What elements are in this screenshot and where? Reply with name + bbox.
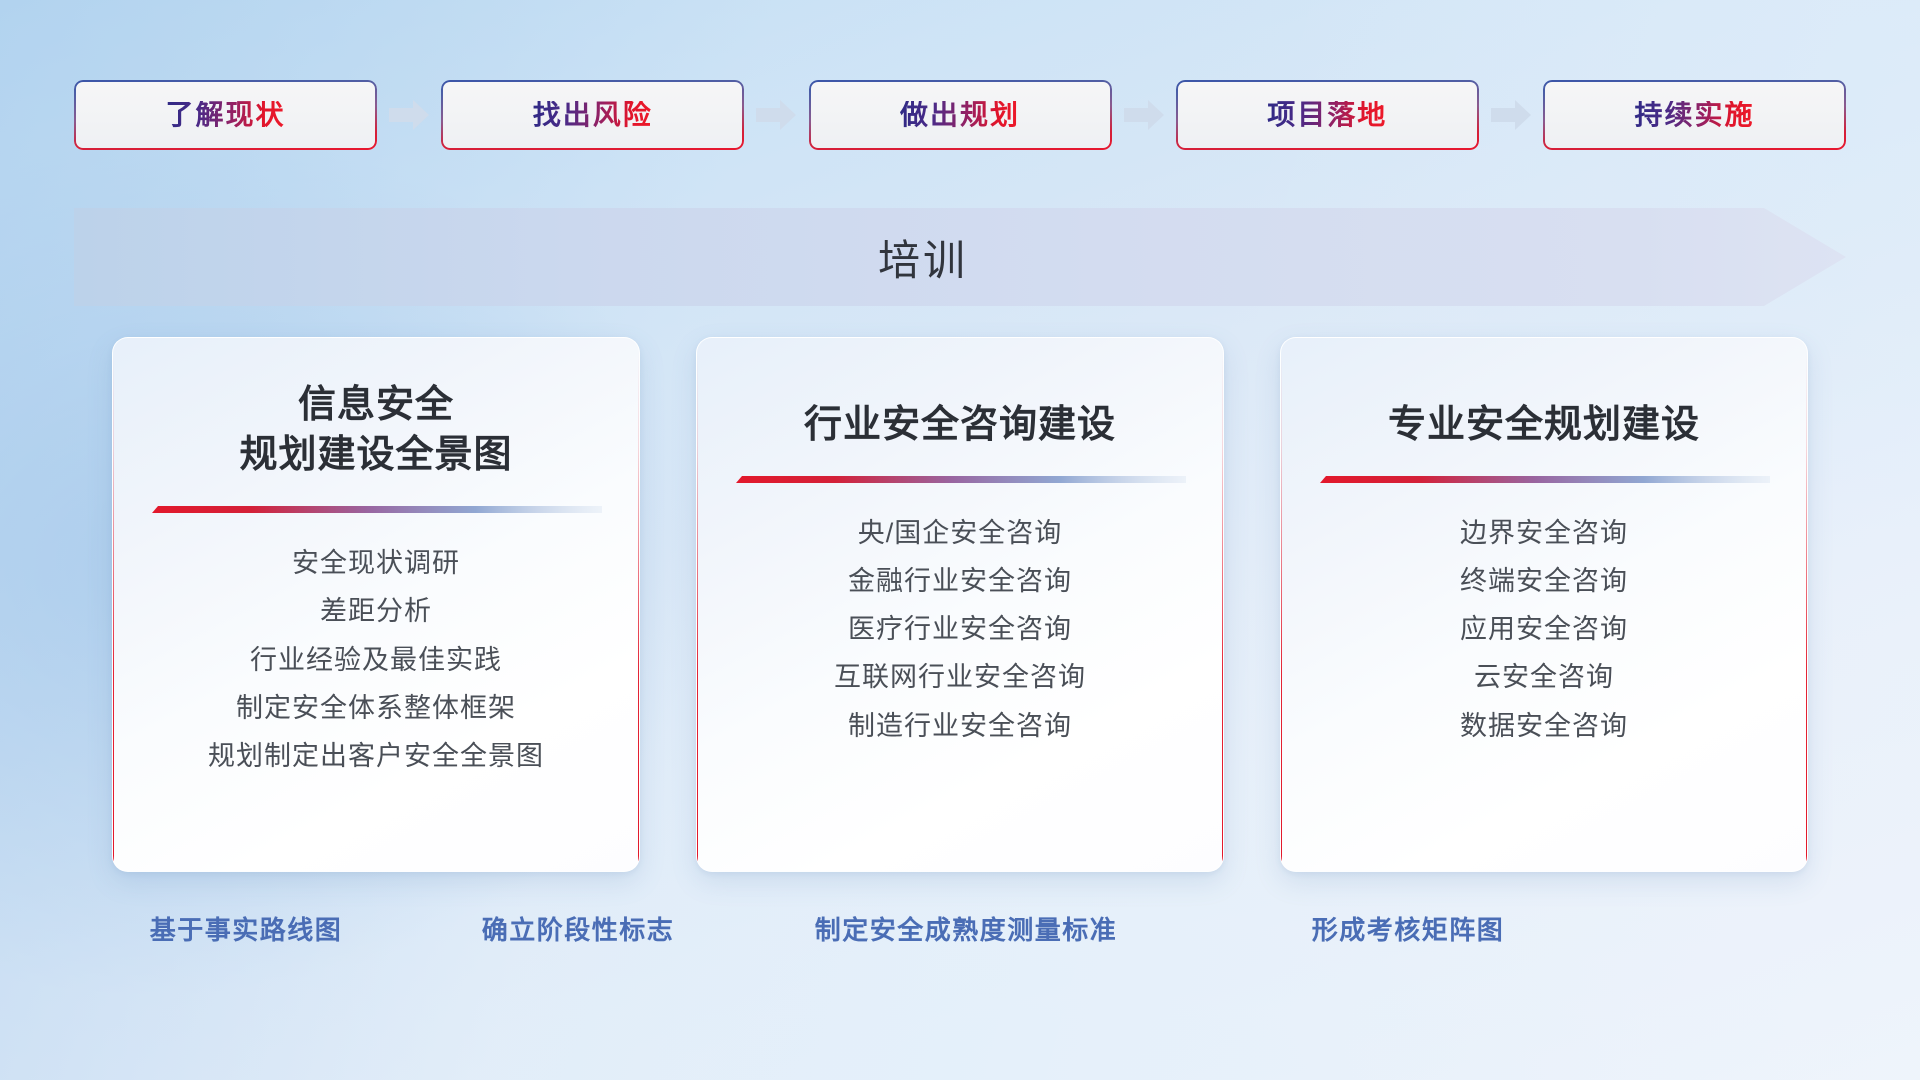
list-item: 行业经验及最佳实践 — [250, 643, 502, 678]
list-item: 云安全咨询 — [1474, 660, 1614, 695]
gradient-divider-icon — [734, 474, 1186, 486]
step-box-2[interactable]: 找出风险 — [441, 80, 744, 150]
gradient-divider-icon — [1318, 474, 1770, 486]
chevron-right-arrow-icon — [1489, 98, 1533, 132]
list-item: 制定安全体系整体框架 — [236, 691, 516, 726]
list-item: 互联网行业安全咨询 — [834, 660, 1086, 695]
chevron-right-arrow-icon — [1122, 98, 1166, 132]
training-banner: 培训 — [74, 208, 1846, 306]
card-information-security-blueprint[interactable]: 信息安全 规划建设全景图 安全现状调研 — [112, 337, 640, 872]
step-label: 持续实施 — [1634, 101, 1754, 129]
card-professional-security-planning[interactable]: 专业安全规划建设 边界安全咨询 — [1280, 337, 1808, 872]
card-item-list: 央/国企安全咨询 金融行业安全咨询 医疗行业安全咨询 互联网行业安全咨询 制造行… — [731, 516, 1189, 743]
list-item: 医疗行业安全咨询 — [848, 612, 1072, 647]
list-item: 安全现状调研 — [292, 546, 460, 581]
footnote-label: 基于事实路线图 — [150, 910, 343, 947]
list-item: 边界安全咨询 — [1460, 516, 1628, 551]
card-title: 信息安全 规划建设全景图 — [239, 380, 512, 480]
card-title: 行业安全咨询建设 — [804, 400, 1116, 450]
list-item: 应用安全咨询 — [1460, 612, 1628, 647]
card-item-list: 安全现状调研 差距分析 行业经验及最佳实践 制定安全体系整体框架 规划制定出客户… — [147, 546, 605, 773]
step-label: 做出规划 — [900, 101, 1020, 129]
card-group: 信息安全 规划建设全景图 安全现状调研 — [112, 337, 1808, 872]
step-box-5[interactable]: 持续实施 — [1543, 80, 1846, 150]
step-box-1[interactable]: 了解现状 — [74, 80, 377, 150]
footnote-label: 确立阶段性标志 — [482, 910, 675, 947]
card-title: 专业安全规划建设 — [1388, 400, 1700, 450]
list-item: 规划制定出客户安全全景图 — [208, 739, 544, 774]
slide-canvas: 了解现状 找出风险 做出规划 项目落地 — [0, 0, 1920, 1080]
step-label: 了解现状 — [165, 101, 285, 129]
card-item-list: 边界安全咨询 终端安全咨询 应用安全咨询 云安全咨询 数据安全咨询 — [1315, 516, 1773, 743]
step-box-3[interactable]: 做出规划 — [809, 80, 1112, 150]
process-step-row: 了解现状 找出风险 做出规划 项目落地 — [74, 80, 1846, 150]
list-item: 制造行业安全咨询 — [848, 709, 1072, 744]
list-item: 金融行业安全咨询 — [848, 564, 1072, 599]
list-item: 终端安全咨询 — [1460, 564, 1628, 599]
step-label: 找出风险 — [533, 101, 653, 129]
chevron-right-arrow-icon — [754, 98, 798, 132]
list-item: 央/国企安全咨询 — [858, 516, 1063, 551]
step-label: 项目落地 — [1267, 101, 1387, 129]
chevron-right-arrow-icon — [387, 98, 431, 132]
list-item: 差距分析 — [320, 594, 432, 629]
card-industry-security-consulting[interactable]: 行业安全咨询建设 央/国企安全咨询 — [696, 337, 1224, 872]
step-box-4[interactable]: 项目落地 — [1176, 80, 1479, 150]
banner-label: 培训 — [74, 208, 1772, 306]
footnote-label: 制定安全成熟度测量标准 — [815, 910, 1118, 947]
footnote-row: 基于事实路线图 确立阶段性标志 制定安全成熟度测量标准 形成考核矩阵图 — [0, 910, 1920, 960]
gradient-divider-icon — [150, 504, 602, 516]
footnote-label: 形成考核矩阵图 — [1312, 910, 1505, 947]
list-item: 数据安全咨询 — [1460, 709, 1628, 744]
